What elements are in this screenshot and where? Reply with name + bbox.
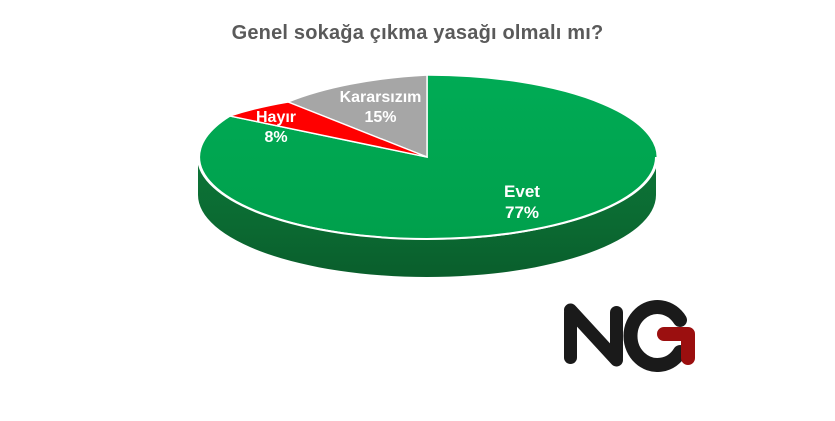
pie-chart-svg [0, 0, 835, 421]
pie-chart: Evet 77% Kararsızım 15% Hayır 8% [0, 0, 835, 421]
ng-logo [560, 296, 705, 372]
ng-logo-svg [560, 296, 705, 372]
ng-logo-letter-n [564, 306, 623, 364]
chart-canvas: Genel sokağa çıkma yasağı olmalı mı? [0, 0, 835, 421]
